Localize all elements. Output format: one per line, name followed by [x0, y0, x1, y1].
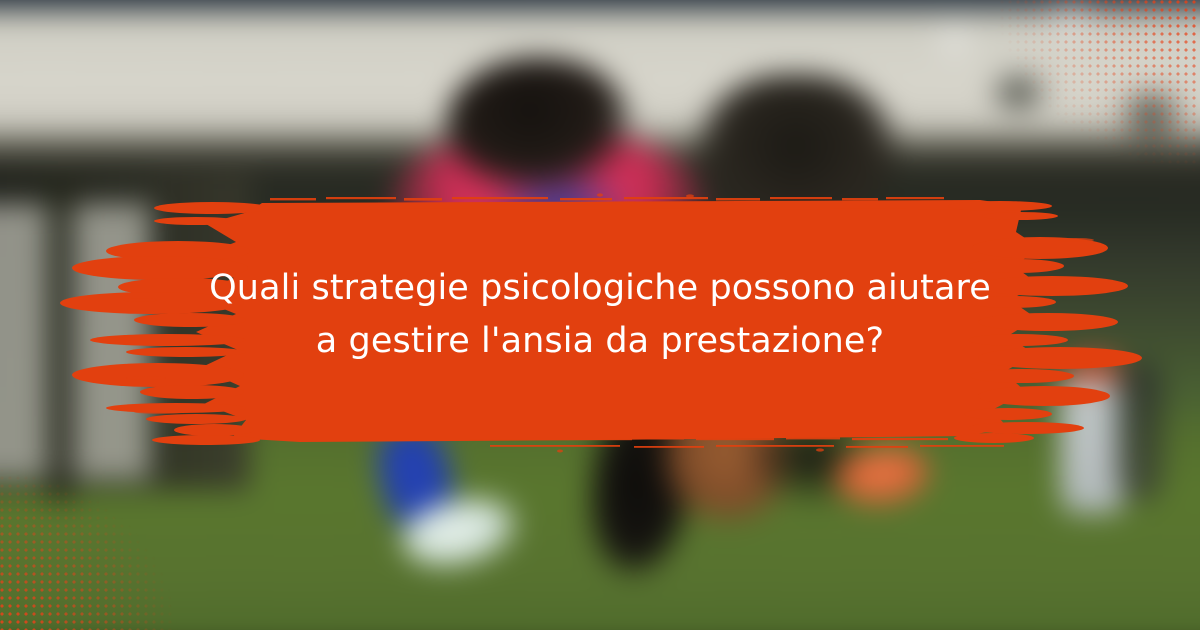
headline-text: Quali strategie psicologiche possono aiu…	[150, 262, 1050, 368]
photo-player-head	[446, 57, 632, 190]
photo-pillar	[47, 183, 75, 501]
photo-second-player	[695, 74, 896, 233]
photo-stadium-crowd	[897, 0, 1200, 183]
photo-left-wall	[0, 204, 150, 480]
photo-bystander-two	[1115, 363, 1164, 501]
share-card: Quali strategie psicologiche possono aiu…	[0, 0, 1200, 630]
